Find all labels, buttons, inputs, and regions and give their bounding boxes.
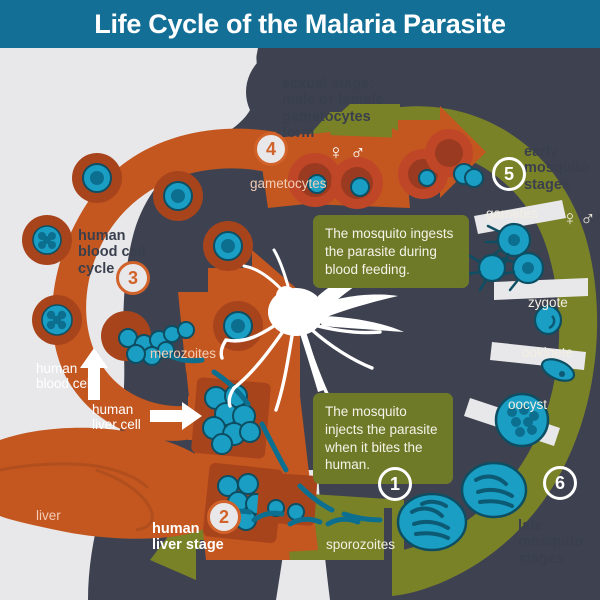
female-symbol-icon: ♀ [328,142,344,163]
sexual-stage-line1: sexual stage: [282,76,384,92]
stage-badge-3[interactable]: 3 [116,261,150,295]
label-human-liver-cell: human liver cell [92,402,141,433]
label-sporozoites: sporozoites [326,537,395,552]
female-symbol-icon-2: ♀ [562,208,578,229]
label-merozoites: merozoites [150,346,216,361]
sexual-stage-line4: form [282,125,384,141]
human-blood-cell-line2: blood cell [36,376,93,391]
label-gametocytes: gametocytes [250,176,327,191]
label-sexual-stage: sexual stage: male or female gametocytes… [282,76,384,142]
male-symbol-icon: ♂ [350,142,366,163]
stage-badge-5[interactable]: 5 [492,157,526,191]
header-bar: Life Cycle of the Malaria Parasite [0,0,600,48]
label-oocyst: oocyst [508,397,547,412]
callout-ingests: The mosquito ingests the parasite during… [313,215,469,288]
page-title: Life Cycle of the Malaria Parasite [94,9,505,40]
infected-liver-cell [191,377,271,459]
human-liver-stage-line2: liver stage [152,537,224,553]
stage-badge-2[interactable]: 2 [207,500,241,534]
human-liver-cell-line1: human [92,402,141,417]
label-ookinete: ookinete [522,345,573,360]
label-human-blood-cell: human blood cell [36,361,93,392]
label-early-mosquito-stages: early mosquito stages [524,144,589,193]
late-mosquito-line3: stages [518,551,583,567]
stage-badge-1[interactable]: 1 [378,467,412,501]
label-liver: liver [36,508,61,523]
infographic-canvas: Life Cycle of the Malaria Parasite sexua… [0,0,600,600]
label-late-mosquito-stages: late mosquito stages [518,518,583,567]
stage-badge-6[interactable]: 6 [543,466,577,500]
early-mosquito-line2: mosquito [524,160,589,176]
human-blood-cell-line1: human [36,361,93,376]
blood-cycle-line1: human [78,228,146,244]
late-mosquito-line2: mosquito [518,534,583,550]
early-mosquito-line1: early [524,144,589,160]
stage-badge-4[interactable]: 4 [254,132,288,166]
blood-cycle-line2: blood cell [78,244,146,260]
label-gametes: gametes [486,206,538,221]
label-zygote: zygote [528,295,568,310]
early-mosquito-line3: stages [524,177,589,193]
sexual-stage-line2: male or female [282,92,384,108]
late-mosquito-line1: late [518,518,583,534]
sexual-stage-line3: gametocytes [282,109,384,125]
human-liver-cell-line2: liver cell [92,417,141,432]
male-symbol-icon-2: ♂ [580,208,596,229]
